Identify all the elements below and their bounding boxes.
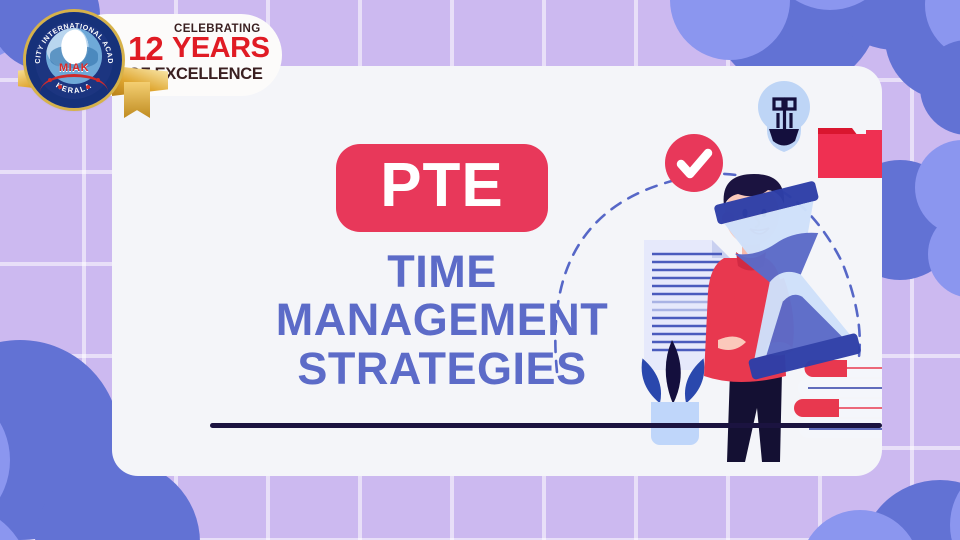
anniversary-number: 12 [128, 32, 163, 65]
academy-seal: MIAK MEDCITY INTERNATIONAL ACADEMY KERAL… [26, 12, 122, 108]
years-label: YEARS [172, 34, 269, 63]
ground-line [210, 423, 882, 428]
headline-line-2: MANAGEMENT [262, 296, 622, 345]
check-circle-icon [665, 134, 723, 192]
headline-line-3: STRATEGIES [262, 345, 622, 394]
brand-badge: CELEBRATING 12 YEARS OF EXCELLENCE MIAK … [6, 4, 286, 108]
pte-exam-badge: PTE [336, 144, 548, 232]
headline-line-1: TIME [262, 248, 622, 297]
seal-monogram: MIAK [59, 62, 89, 74]
folder-icon [818, 128, 882, 178]
poster-card: PTE TIME MANAGEMENT STRATEGIES [112, 66, 882, 476]
pte-label: PTE [380, 158, 504, 214]
headline-block: PTE TIME MANAGEMENT STRATEGIES [262, 144, 622, 394]
lightbulb-icon [758, 81, 810, 152]
